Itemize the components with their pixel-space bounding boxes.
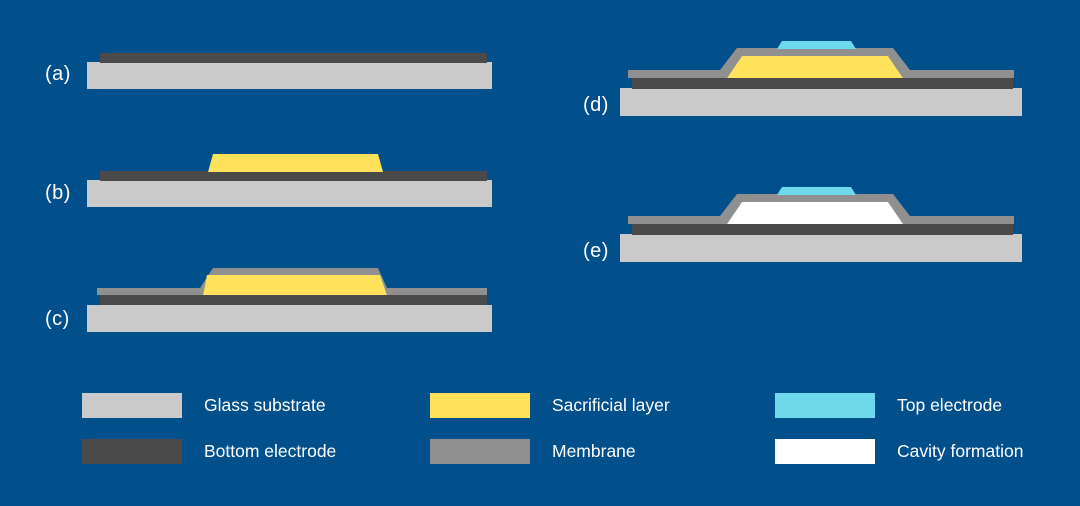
legend-label-membrane: Membrane — [552, 443, 636, 461]
panel-c-glass-substrate — [87, 305, 492, 332]
legend-label-sacrificial-layer: Sacrificial layer — [552, 397, 670, 415]
panel-d-sacrificial-layer — [727, 56, 903, 78]
panel-label-d: (d) — [583, 95, 609, 115]
legend-item-sacrificial-layer: Sacrificial layer — [430, 393, 670, 418]
cross-section-drawings — [0, 0, 1080, 506]
panel-d-graphic — [620, 41, 1022, 116]
panel-c-bottom-electrode — [100, 294, 487, 305]
legend-item-bottom-electrode: Bottom electrode — [82, 439, 336, 464]
panel-d-glass-substrate — [620, 88, 1022, 116]
legend-label-glass-substrate: Glass substrate — [204, 397, 326, 415]
panel-c-graphic — [87, 268, 492, 332]
panel-e-top-electrode — [777, 187, 856, 195]
legend-swatch-top-electrode — [775, 393, 875, 418]
legend-swatch-membrane — [430, 439, 530, 464]
panel-c-sacrificial-layer — [203, 275, 387, 295]
legend-item-cavity-formation: Cavity formation — [775, 439, 1023, 464]
legend-label-cavity-formation: Cavity formation — [897, 443, 1023, 461]
panel-b-bottom-electrode — [100, 171, 487, 181]
diagram-canvas: (a) (b) (c) (d) (e) — [0, 0, 1080, 506]
panel-e-membrane — [628, 194, 1014, 224]
panel-e-cavity-formation — [727, 202, 903, 224]
legend-swatch-cavity-formation — [775, 439, 875, 464]
panel-label-e: (e) — [583, 241, 609, 261]
panel-d-top-electrode — [777, 41, 856, 49]
panel-e-bottom-electrode — [632, 223, 1013, 235]
panel-a-bottom-electrode — [100, 53, 487, 63]
panel-a-glass-substrate — [87, 62, 492, 89]
panel-e-graphic — [620, 187, 1022, 262]
panel-label-b: (b) — [45, 183, 71, 203]
panel-b-sacrificial-layer — [208, 154, 383, 172]
legend-label-top-electrode: Top electrode — [897, 397, 1002, 415]
legend-item-membrane: Membrane — [430, 439, 636, 464]
panel-label-c: (c) — [45, 309, 70, 329]
panel-b-graphic — [87, 154, 492, 207]
legend-swatch-glass-substrate — [82, 393, 182, 418]
legend-item-glass-substrate: Glass substrate — [82, 393, 326, 418]
legend-item-top-electrode: Top electrode — [775, 393, 1002, 418]
panel-b-glass-substrate — [87, 180, 492, 207]
legend-swatch-bottom-electrode — [82, 439, 182, 464]
panel-c-membrane — [97, 268, 487, 295]
panel-a-graphic — [87, 53, 492, 89]
panel-e-glass-substrate — [620, 234, 1022, 262]
panel-label-a: (a) — [45, 64, 71, 84]
legend-label-bottom-electrode: Bottom electrode — [204, 443, 336, 461]
panel-d-bottom-electrode — [632, 77, 1013, 89]
panel-d-membrane — [628, 48, 1014, 78]
legend-swatch-sacrificial-layer — [430, 393, 530, 418]
